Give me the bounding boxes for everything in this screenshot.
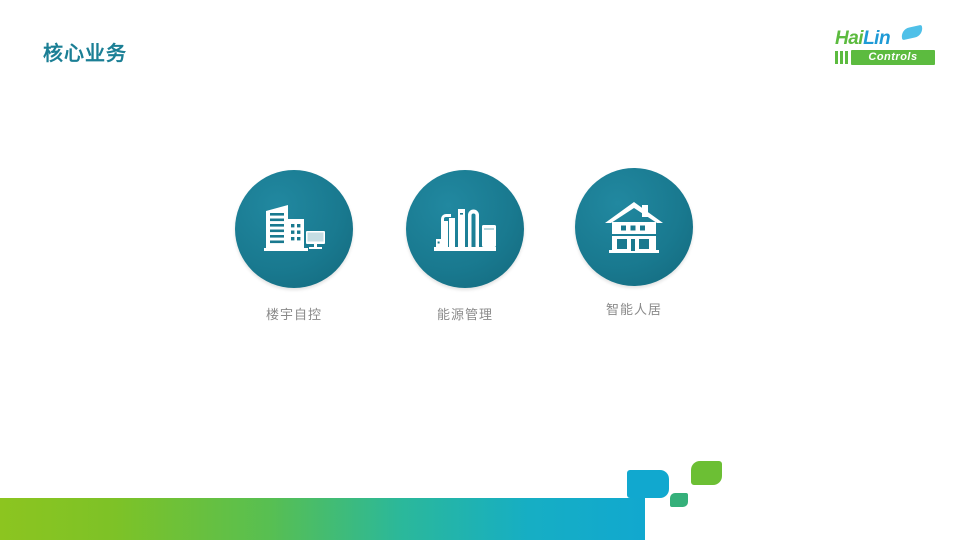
business-item-label: 能源管理 bbox=[390, 306, 540, 324]
business-item-smart-living[interactable]: 智能人居 bbox=[559, 168, 709, 319]
core-business-items: 楼宇自控 bbox=[0, 170, 960, 350]
logo-text-hai: Hai bbox=[835, 28, 863, 49]
leaf-icon bbox=[900, 25, 924, 40]
industrial-plant-icon bbox=[432, 201, 498, 257]
icon-circle[interactable] bbox=[235, 170, 353, 288]
bottom-gradient-bar bbox=[0, 498, 645, 540]
decoration-square-small bbox=[670, 493, 688, 507]
decoration-step-shape bbox=[627, 470, 669, 498]
business-item-building-automation[interactable]: 楼宇自控 bbox=[219, 170, 369, 324]
icon-circle[interactable] bbox=[406, 170, 524, 288]
building-monitor-icon bbox=[262, 201, 326, 257]
house-icon bbox=[604, 200, 664, 254]
bars-icon bbox=[835, 50, 851, 65]
decoration-square-large bbox=[691, 461, 722, 485]
hailin-controls-logo: HaiLin Controls bbox=[835, 28, 935, 72]
logo-banner-row: Controls bbox=[835, 50, 935, 65]
icon-circle[interactable] bbox=[575, 168, 693, 286]
business-item-label: 楼宇自控 bbox=[219, 306, 369, 324]
page-title: 核心业务 bbox=[43, 40, 127, 68]
business-item-energy-management[interactable]: 能源管理 bbox=[390, 170, 540, 324]
logo-banner-text: Controls bbox=[851, 50, 935, 65]
business-item-label: 智能人居 bbox=[559, 301, 709, 319]
logo-wordmark: HaiLin bbox=[835, 28, 890, 49]
slide-canvas: 核心业务 HaiLin Controls bbox=[0, 0, 960, 540]
logo-text-lin: Lin bbox=[863, 28, 890, 49]
